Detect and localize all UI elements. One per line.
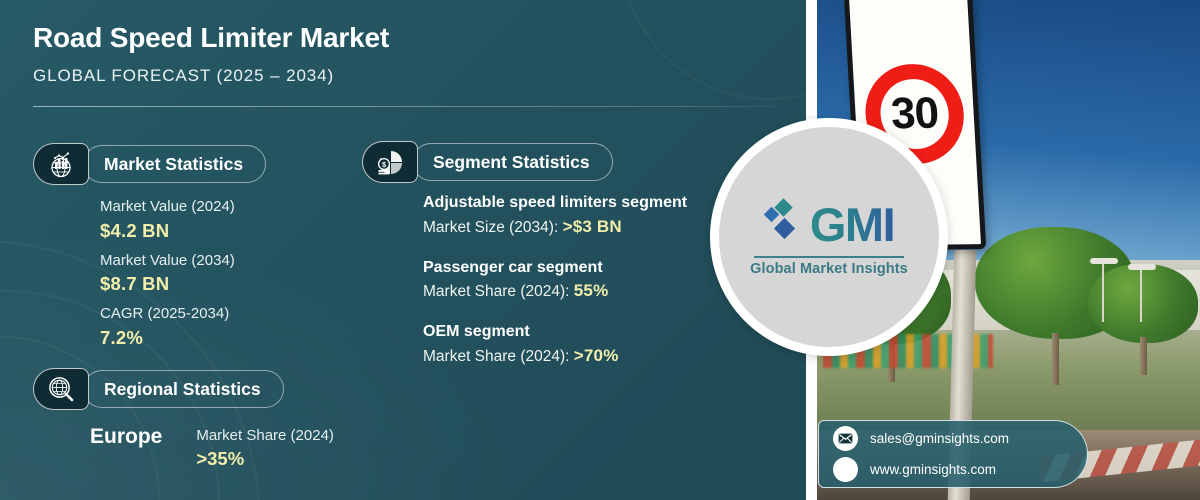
segment-item: OEM segment Market Share (2024): >70%: [423, 321, 753, 366]
header-divider: [33, 106, 775, 107]
segment-metric-value: 55%: [574, 281, 609, 300]
tree-trunk: [1140, 337, 1147, 374]
market-statistics-list: Market Value (2024) $4.2 BN Market Value…: [100, 196, 235, 357]
regional-statistics-pill: Regional Statistics: [83, 370, 284, 408]
regional-statistics-label: Regional Statistics: [104, 379, 261, 400]
stat-value: $8.7 BN: [100, 271, 235, 298]
segment-metric: Market Share (2024): >70%: [423, 346, 753, 366]
market-statistics-pill: Market Statistics: [83, 145, 266, 183]
logo-text: GMI: [810, 201, 894, 248]
page-title: Road Speed Limiter Market: [33, 22, 773, 54]
segment-title: Passenger car segment: [423, 257, 753, 279]
decorative-arc: [0, 335, 160, 500]
left-content-panel: Road Speed Limiter Market GLOBAL FORECAS…: [0, 0, 806, 500]
page-subtitle: GLOBAL FORECAST (2025 – 2034): [33, 66, 773, 86]
segment-metric-label: Market Share (2024):: [423, 348, 574, 365]
globe-bar-chart-icon: [33, 143, 89, 185]
stat-label: Market Value (2024): [100, 196, 235, 218]
segment-statistics-list: Adjustable speed limiters segment Market…: [423, 192, 753, 386]
segment-statistics-label: Segment Statistics: [433, 152, 590, 173]
tree-crown: [1088, 264, 1198, 343]
segment-title: OEM segment: [423, 321, 753, 343]
stat-row: Market Value (2024) $4.2 BN: [100, 196, 235, 245]
infographic-root: Road Speed Limiter Market GLOBAL FORECAS…: [0, 0, 1200, 500]
stat-label: CAGR (2025-2034): [100, 303, 235, 325]
stat-row: CAGR (2025-2034) 7.2%: [100, 303, 235, 352]
segment-metric: Market Share (2024): 55%: [423, 281, 753, 301]
region-metric-block: Market Share (2024) >35%: [196, 425, 334, 470]
tree: [1088, 264, 1198, 374]
region-metric-value: >35%: [196, 448, 334, 470]
section-header-market-statistics: Market Statistics: [33, 143, 266, 185]
segment-statistics-pill: Segment Statistics: [412, 143, 613, 181]
market-statistics-label: Market Statistics: [104, 154, 243, 175]
segment-metric: Market Size (2034): >$3 BN: [423, 217, 753, 237]
contact-email-row[interactable]: sales@gminsights.com: [833, 426, 1073, 451]
speed-limit-number: 30: [890, 88, 940, 138]
contact-bar: sales@gminsights.com www.gminsights.com: [818, 420, 1088, 488]
street-lamp: [1102, 262, 1104, 322]
logo-tagline: Global Market Insights: [750, 261, 908, 277]
segment-item: Passenger car segment Market Share (2024…: [423, 257, 753, 302]
stat-value: $4.2 BN: [100, 218, 235, 245]
stat-label: Market Value (2034): [100, 250, 235, 272]
logo-mark: GMI: [764, 197, 894, 251]
header: Road Speed Limiter Market GLOBAL FORECAS…: [33, 22, 773, 86]
stat-value: 7.2%: [100, 325, 235, 352]
section-header-segment-statistics: $ Segment Statistics: [362, 141, 613, 183]
segment-metric-label: Market Size (2034):: [423, 219, 563, 236]
svg-text:$: $: [382, 160, 386, 169]
region-metric-label: Market Share (2024): [196, 425, 334, 448]
regional-statistics-content: Europe Market Share (2024) >35%: [90, 425, 334, 470]
segment-item: Adjustable speed limiters segment Market…: [423, 192, 753, 237]
segment-metric-label: Market Share (2024):: [423, 283, 574, 300]
tree-trunk: [1052, 333, 1059, 386]
section-header-regional-statistics: Regional Statistics: [33, 368, 284, 410]
stat-row: Market Value (2034) $8.7 BN: [100, 250, 235, 299]
contact-email[interactable]: sales@gminsights.com: [870, 431, 1009, 446]
globe-icon: [833, 457, 858, 482]
contact-website[interactable]: www.gminsights.com: [870, 462, 996, 477]
pie-chart-dollar-icon: $: [362, 141, 418, 183]
segment-title: Adjustable speed limiters segment: [423, 192, 753, 214]
contact-website-row[interactable]: www.gminsights.com: [833, 457, 1073, 482]
street-lamp: [1140, 268, 1142, 322]
segment-metric-value: >$3 BN: [563, 217, 622, 236]
region-name: Europe: [90, 425, 162, 449]
envelope-icon: [833, 426, 858, 451]
segment-metric-value: >70%: [574, 346, 619, 365]
gmi-diamond-icon: [764, 197, 806, 251]
logo-divider: [754, 256, 904, 258]
gmi-logo-badge: GMI Global Market Insights: [710, 118, 948, 356]
globe-magnifier-icon: [33, 368, 89, 410]
